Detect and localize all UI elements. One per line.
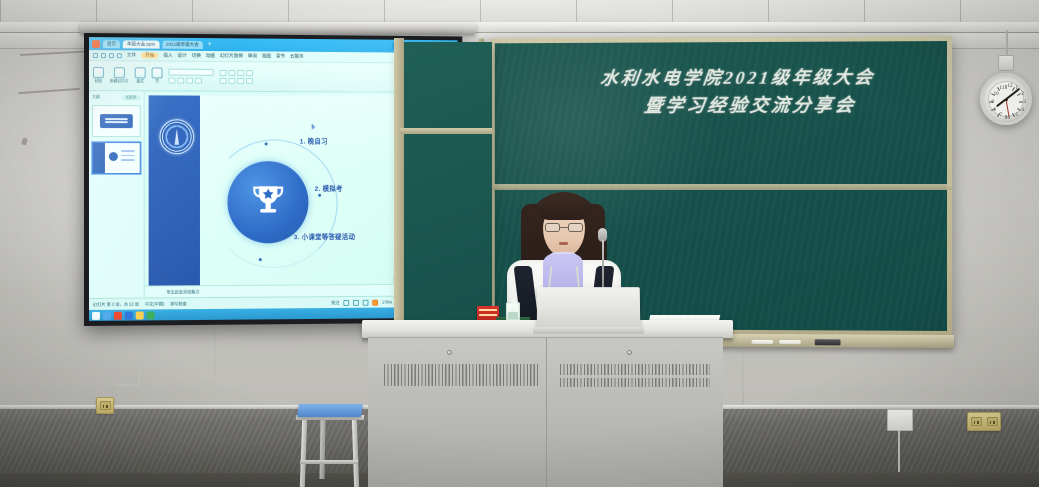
clock-numeral: 3	[1024, 100, 1027, 105]
sorter-view-icon[interactable]	[353, 299, 359, 305]
clock-numeral: 4	[1021, 108, 1024, 113]
tab-home[interactable]: 首页	[103, 40, 120, 48]
thumbnail-text-lines	[121, 150, 135, 161]
bullet-list-icon[interactable]	[246, 70, 253, 76]
ribbon-group-layout[interactable]: 版式	[135, 67, 146, 84]
eraser-icon	[815, 339, 841, 345]
orbit-dot	[258, 258, 261, 261]
cabinet-lock-icon[interactable]	[627, 350, 632, 355]
menu-animation[interactable]: 动画	[206, 53, 215, 59]
stool-seat	[297, 404, 363, 417]
print-icon[interactable]	[117, 53, 122, 58]
lectern	[368, 320, 723, 487]
bold-icon[interactable]	[168, 78, 175, 84]
arrange-icon[interactable]	[228, 77, 235, 83]
vent-grille	[560, 378, 710, 387]
mouse-cursor-icon	[312, 124, 316, 130]
undo-icon[interactable]	[101, 53, 106, 58]
align-left-icon[interactable]	[220, 69, 227, 75]
underline-icon[interactable]	[186, 78, 193, 84]
wps-icon[interactable]	[114, 311, 122, 319]
clock-tick	[1020, 102, 1024, 103]
stool-leg	[352, 419, 359, 487]
clock-tick	[1006, 85, 1007, 89]
redo-icon[interactable]	[109, 53, 114, 58]
thumbnail-preview	[105, 143, 140, 173]
align-right-icon[interactable]	[237, 70, 244, 76]
tab-secondary[interactable]: 2021级年级大会	[162, 40, 203, 48]
slide-thumbnail-panel[interactable]: 大纲 幻灯片 1 2	[89, 91, 145, 298]
clock-numeral: 5	[1016, 113, 1019, 118]
wps-logo-icon	[92, 40, 100, 48]
font-controls[interactable]	[168, 69, 213, 84]
save-icon[interactable]	[93, 53, 98, 58]
fill-icon[interactable]	[237, 77, 244, 83]
vent-grille	[560, 364, 710, 375]
ribbon-group-section[interactable]: 节	[152, 67, 163, 84]
menu-review[interactable]: 审阅	[248, 53, 257, 59]
clock-numeral: 12	[1008, 84, 1013, 89]
menu-transition[interactable]: 切换	[192, 53, 201, 59]
italic-icon[interactable]	[177, 78, 184, 84]
cabinet-door-split	[546, 338, 548, 487]
layout-icon[interactable]	[135, 67, 146, 78]
slide-thumbnail-2[interactable]: 2	[92, 142, 141, 174]
section-icon[interactable]	[152, 67, 163, 78]
laptop-lid	[537, 287, 640, 328]
microphone-stem	[602, 240, 604, 290]
clock-numeral: 7	[1000, 113, 1003, 118]
menu-design[interactable]: 设计	[177, 53, 186, 59]
folder-icon[interactable]	[136, 311, 144, 319]
ribbon-label: 节	[155, 79, 159, 84]
menu-section[interactable]: 章节	[276, 54, 285, 60]
open-laptop	[533, 287, 644, 334]
clock-tick	[989, 102, 993, 103]
tab-active-document[interactable]: 年级大会.pptx	[123, 40, 159, 48]
qq-icon[interactable]	[125, 311, 133, 319]
blue-top-stool	[296, 404, 364, 487]
ribbon-label: 版式	[136, 79, 144, 84]
thumbnail-preview	[93, 106, 140, 136]
thumbnail-title-card	[100, 114, 134, 128]
stool-leg	[300, 419, 307, 487]
align-center-icon[interactable]	[228, 69, 235, 75]
glasses-icon	[545, 223, 583, 232]
notes-placeholder: 单击此处添加备注	[166, 289, 199, 295]
slide-thumbnail-1[interactable]: 1	[92, 105, 141, 137]
shape-icon[interactable]	[220, 77, 227, 83]
zoom-level[interactable]: 176%	[382, 300, 392, 305]
font-color-icon[interactable]	[195, 78, 202, 84]
blackboard-writing: 水利水电学院2021级年级大会 暨学习经验交流分享会	[548, 64, 928, 121]
new-tab-button[interactable]: +	[206, 41, 214, 48]
new-slide-icon[interactable]	[114, 67, 125, 78]
mouth	[559, 242, 568, 245]
blackboard-side-panel	[400, 42, 492, 330]
find-icon[interactable]	[246, 78, 253, 84]
thumbnail-number: 2	[92, 145, 93, 149]
conduit	[138, 370, 140, 386]
clock-numeral: 2	[1021, 92, 1024, 97]
ribbon-group-new-slide[interactable]: 新建幻灯片	[110, 67, 129, 84]
hair-fringe	[538, 198, 590, 220]
thumbnail-number: 1	[92, 108, 93, 112]
slide-item-1: 1. 晚自习	[300, 136, 328, 146]
paste-icon[interactable]	[93, 67, 104, 78]
menu-start[interactable]: 开始	[141, 52, 158, 58]
menu-file[interactable]: 文件	[127, 52, 136, 58]
blackboard-divider	[400, 128, 492, 134]
shape-buttons[interactable]	[220, 77, 253, 83]
conduit	[114, 384, 140, 386]
wall-socket-icon	[967, 412, 1001, 431]
paragraph-controls[interactable]	[220, 69, 253, 83]
clock-wire	[1006, 30, 1008, 56]
thumbnail-sidebar	[93, 143, 105, 173]
browser-icon[interactable]	[103, 311, 111, 319]
ribbon-label: 新建幻灯片	[110, 79, 129, 84]
menu-slideshow[interactable]: 幻灯片放映	[220, 53, 243, 59]
slide-item-3: 3. 小课堂等答疑活动	[294, 231, 355, 241]
classroom-photo: 首页 年级大会.pptx 2021级年级大会 + 会员专享 — ▢ ✕	[0, 0, 1039, 487]
blackboard-rail	[394, 38, 404, 334]
menu-cloud[interactable]: 云服务	[290, 54, 304, 60]
chalk-icon	[752, 340, 774, 344]
conduit	[898, 430, 900, 472]
cabinet-lock-icon[interactable]	[447, 350, 452, 355]
normal-view-icon[interactable]	[343, 299, 349, 305]
menu-view[interactable]: 视图	[262, 53, 271, 59]
slide-counter: 幻灯片 第 2 张，共 12 张	[93, 301, 139, 307]
thumbnail-trophy-icon	[109, 152, 118, 161]
comment-button[interactable]: 批注	[331, 300, 339, 306]
stool-rail	[300, 460, 358, 464]
vent-grille	[384, 364, 539, 386]
wall-panel-box	[887, 409, 913, 431]
clock-tick	[1006, 116, 1007, 120]
ribbon-group-paste[interactable]: 粘贴	[93, 67, 104, 84]
menu-insert[interactable]: 插入	[163, 53, 172, 59]
language-indicator[interactable]: 中文(中国)	[145, 301, 164, 307]
microphone	[598, 228, 608, 290]
wechat-icon[interactable]	[147, 311, 155, 319]
clock-mount-bracket	[998, 55, 1014, 71]
stool-leg	[319, 419, 325, 479]
ribbon-label: 粘贴	[95, 79, 103, 84]
slide-item-2: 2. 模拟考	[315, 183, 343, 193]
quick-access-toolbar[interactable]	[93, 53, 122, 58]
lectern-cabinet	[368, 337, 723, 487]
blackboard-line-1: 水利水电学院2021级年级大会	[547, 64, 931, 93]
chalk-icon	[779, 340, 801, 344]
laptop-base	[533, 327, 644, 334]
clock-numeral: 11	[1000, 86, 1005, 91]
outline-tab[interactable]: 大纲	[92, 94, 100, 100]
font-style-buttons[interactable]	[168, 78, 213, 84]
slides-tab[interactable]: 幻灯片	[122, 95, 141, 100]
align-buttons[interactable]	[220, 69, 253, 75]
clock-center-pin	[1005, 98, 1008, 101]
start-icon[interactable]	[92, 311, 100, 319]
font-family-select[interactable]	[168, 69, 213, 76]
reading-view-icon[interactable]	[363, 299, 369, 305]
wall-socket-icon	[96, 397, 114, 414]
slideshow-view-icon[interactable]	[372, 299, 378, 305]
thumbnail-panel-header: 大纲 幻灯片	[92, 94, 141, 100]
blackboard-line-2: 暨学习经验交流分享会	[547, 92, 931, 122]
wall-clock: 121234567891011	[980, 73, 1032, 125]
spellcheck-indicator[interactable]: 拼写检查	[170, 301, 187, 307]
